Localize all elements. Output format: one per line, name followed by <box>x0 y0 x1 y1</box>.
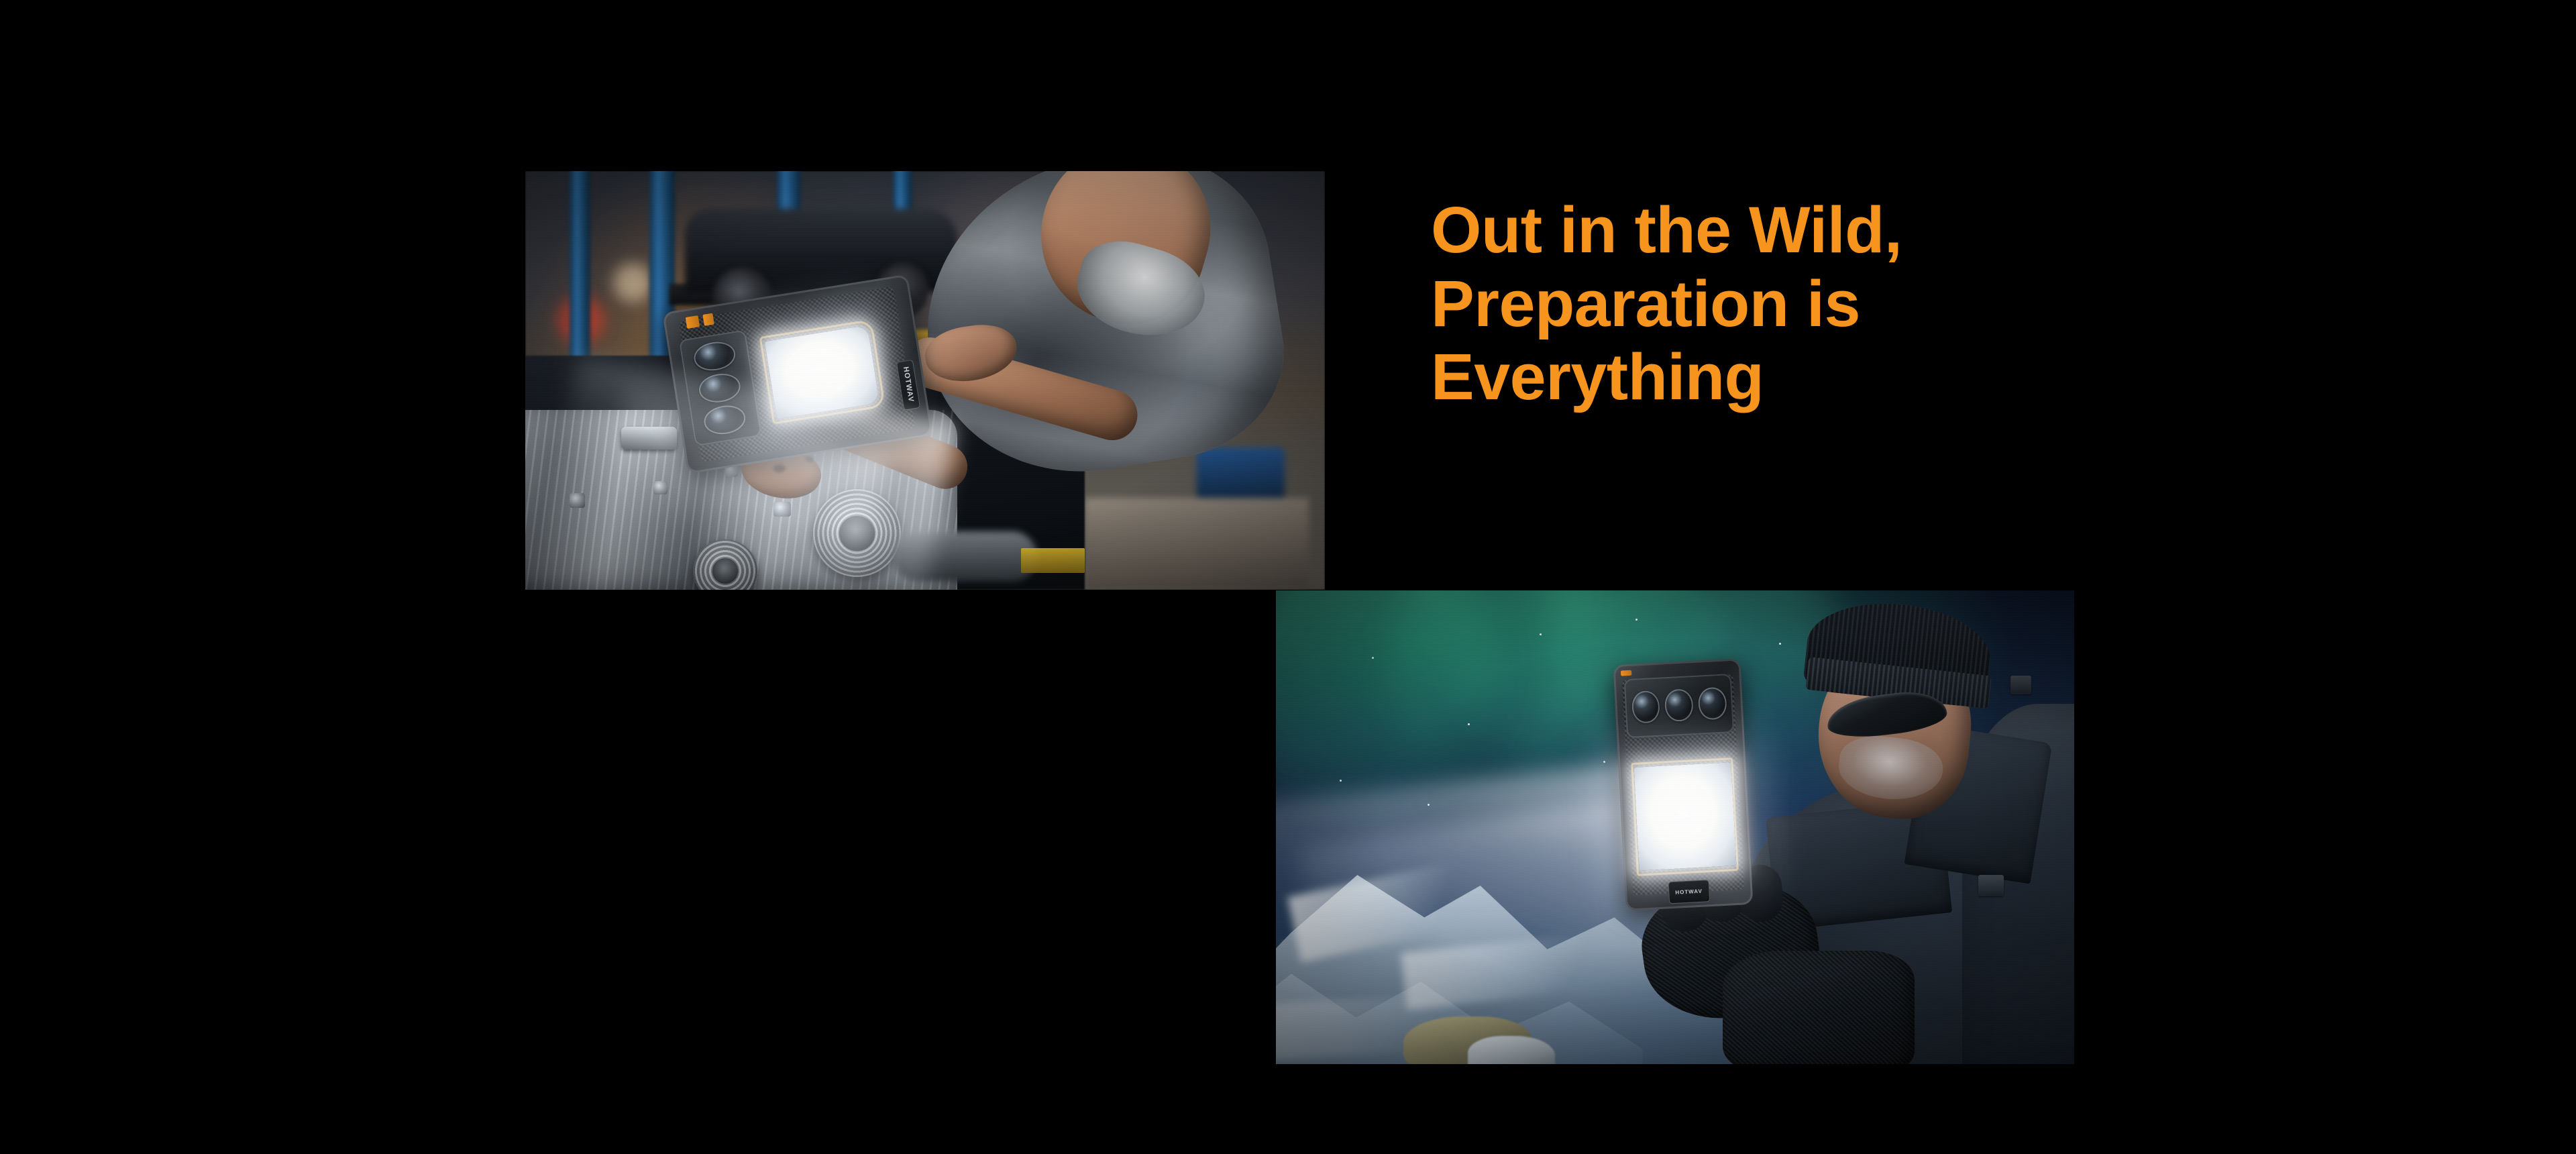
camera-lens <box>1664 688 1694 722</box>
camera-module <box>1624 674 1734 738</box>
orange-accent <box>1621 670 1631 676</box>
camera-lens <box>697 371 743 405</box>
parka-buckle <box>2010 676 2031 694</box>
led-flashlight-panel <box>764 325 879 419</box>
warning-label <box>1021 548 1085 573</box>
slide-canvas: HOTWAV Out in the Wild, Preparation is E… <box>0 0 2576 1154</box>
engine-bolt <box>570 493 586 507</box>
engine-component <box>893 531 1037 582</box>
camera-lens <box>692 339 737 373</box>
engine-bolt <box>773 502 791 517</box>
bokeh-light <box>613 263 652 302</box>
glove-wrist <box>1723 951 1915 1064</box>
orange-accent <box>685 315 699 329</box>
star <box>1428 804 1430 806</box>
brand-logo: HOTWAV <box>1668 880 1710 904</box>
led-flashlight-panel <box>1633 762 1736 871</box>
star <box>1540 633 1542 635</box>
serpentine-pulley <box>813 489 901 577</box>
page-title: Out in the Wild, Preparation is Everythi… <box>1431 193 2236 414</box>
rugged-phone: HOTWAV <box>1613 658 1753 911</box>
parka-buckle <box>1978 875 2004 896</box>
pulley-hub <box>839 516 874 551</box>
engine-bolt <box>653 481 667 494</box>
orange-accent <box>702 313 714 326</box>
star <box>1779 643 1781 645</box>
camera-lens <box>702 403 747 437</box>
star <box>1372 657 1374 659</box>
oil-filler-cap <box>621 427 677 450</box>
star <box>1468 723 1470 725</box>
grease-spot <box>773 464 786 472</box>
aurora-mountain-photo: HOTWAV <box>1276 590 2074 1064</box>
pulley-hub <box>712 558 738 583</box>
mechanic-garage-photo: HOTWAV <box>525 171 1325 590</box>
camera-lens <box>1631 690 1660 724</box>
garage-floor <box>1085 498 1309 590</box>
camera-lens <box>1697 687 1727 721</box>
